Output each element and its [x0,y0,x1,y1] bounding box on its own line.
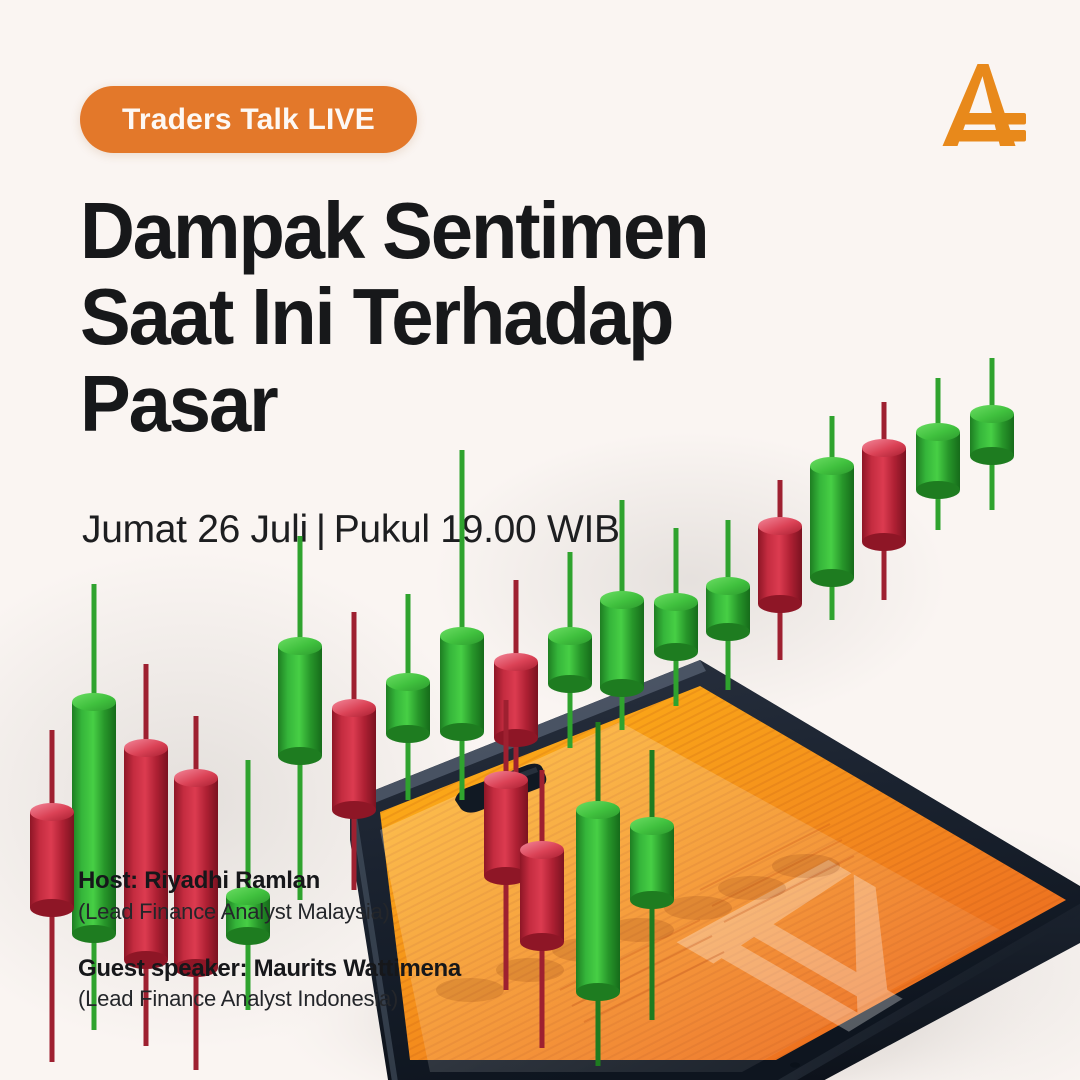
candle-up-15 [706,520,750,690]
candlestick-foreground [0,730,74,1062]
candle-up-10 [440,450,484,800]
candle-down-18 [862,402,906,600]
traders-talk-live-badge[interactable]: Traders Talk LIVE [80,86,417,153]
candle-down-1 [30,730,74,1062]
candle-up-9 [386,594,430,800]
badge-label: Traders Talk LIVE [122,103,375,137]
headline-line-1: Dampak Sentimen [80,188,802,274]
candle-up-17 [810,416,854,620]
candle-up-19 [916,378,960,530]
speaker-guest: Guest speaker: Maurits Wattimena (Lead F… [78,954,461,1016]
speaker-host: Host: Riyadhi Ramlan (Lead Finance Analy… [78,866,461,928]
speaker-list: Host: Riyadhi Ramlan (Lead Finance Analy… [78,866,461,1015]
speaker-host-role: (Lead Finance Analyst Malaysia) [78,897,461,928]
candle-up-20 [970,358,1014,510]
candle-up-7 [278,536,322,900]
speaker-host-name: Host: Riyadhi Ramlan [78,866,461,897]
speaker-guest-role: (Lead Finance Analyst Indonesia) [78,984,461,1015]
poster-canvas: Traders Talk LIVE Dampak Sentimen Saat I… [0,0,1080,1080]
speaker-guest-name: Guest speaker: Maurits Wattimena [78,954,461,985]
candle-down-16 [758,480,802,660]
brand-a-logo [930,58,1035,168]
